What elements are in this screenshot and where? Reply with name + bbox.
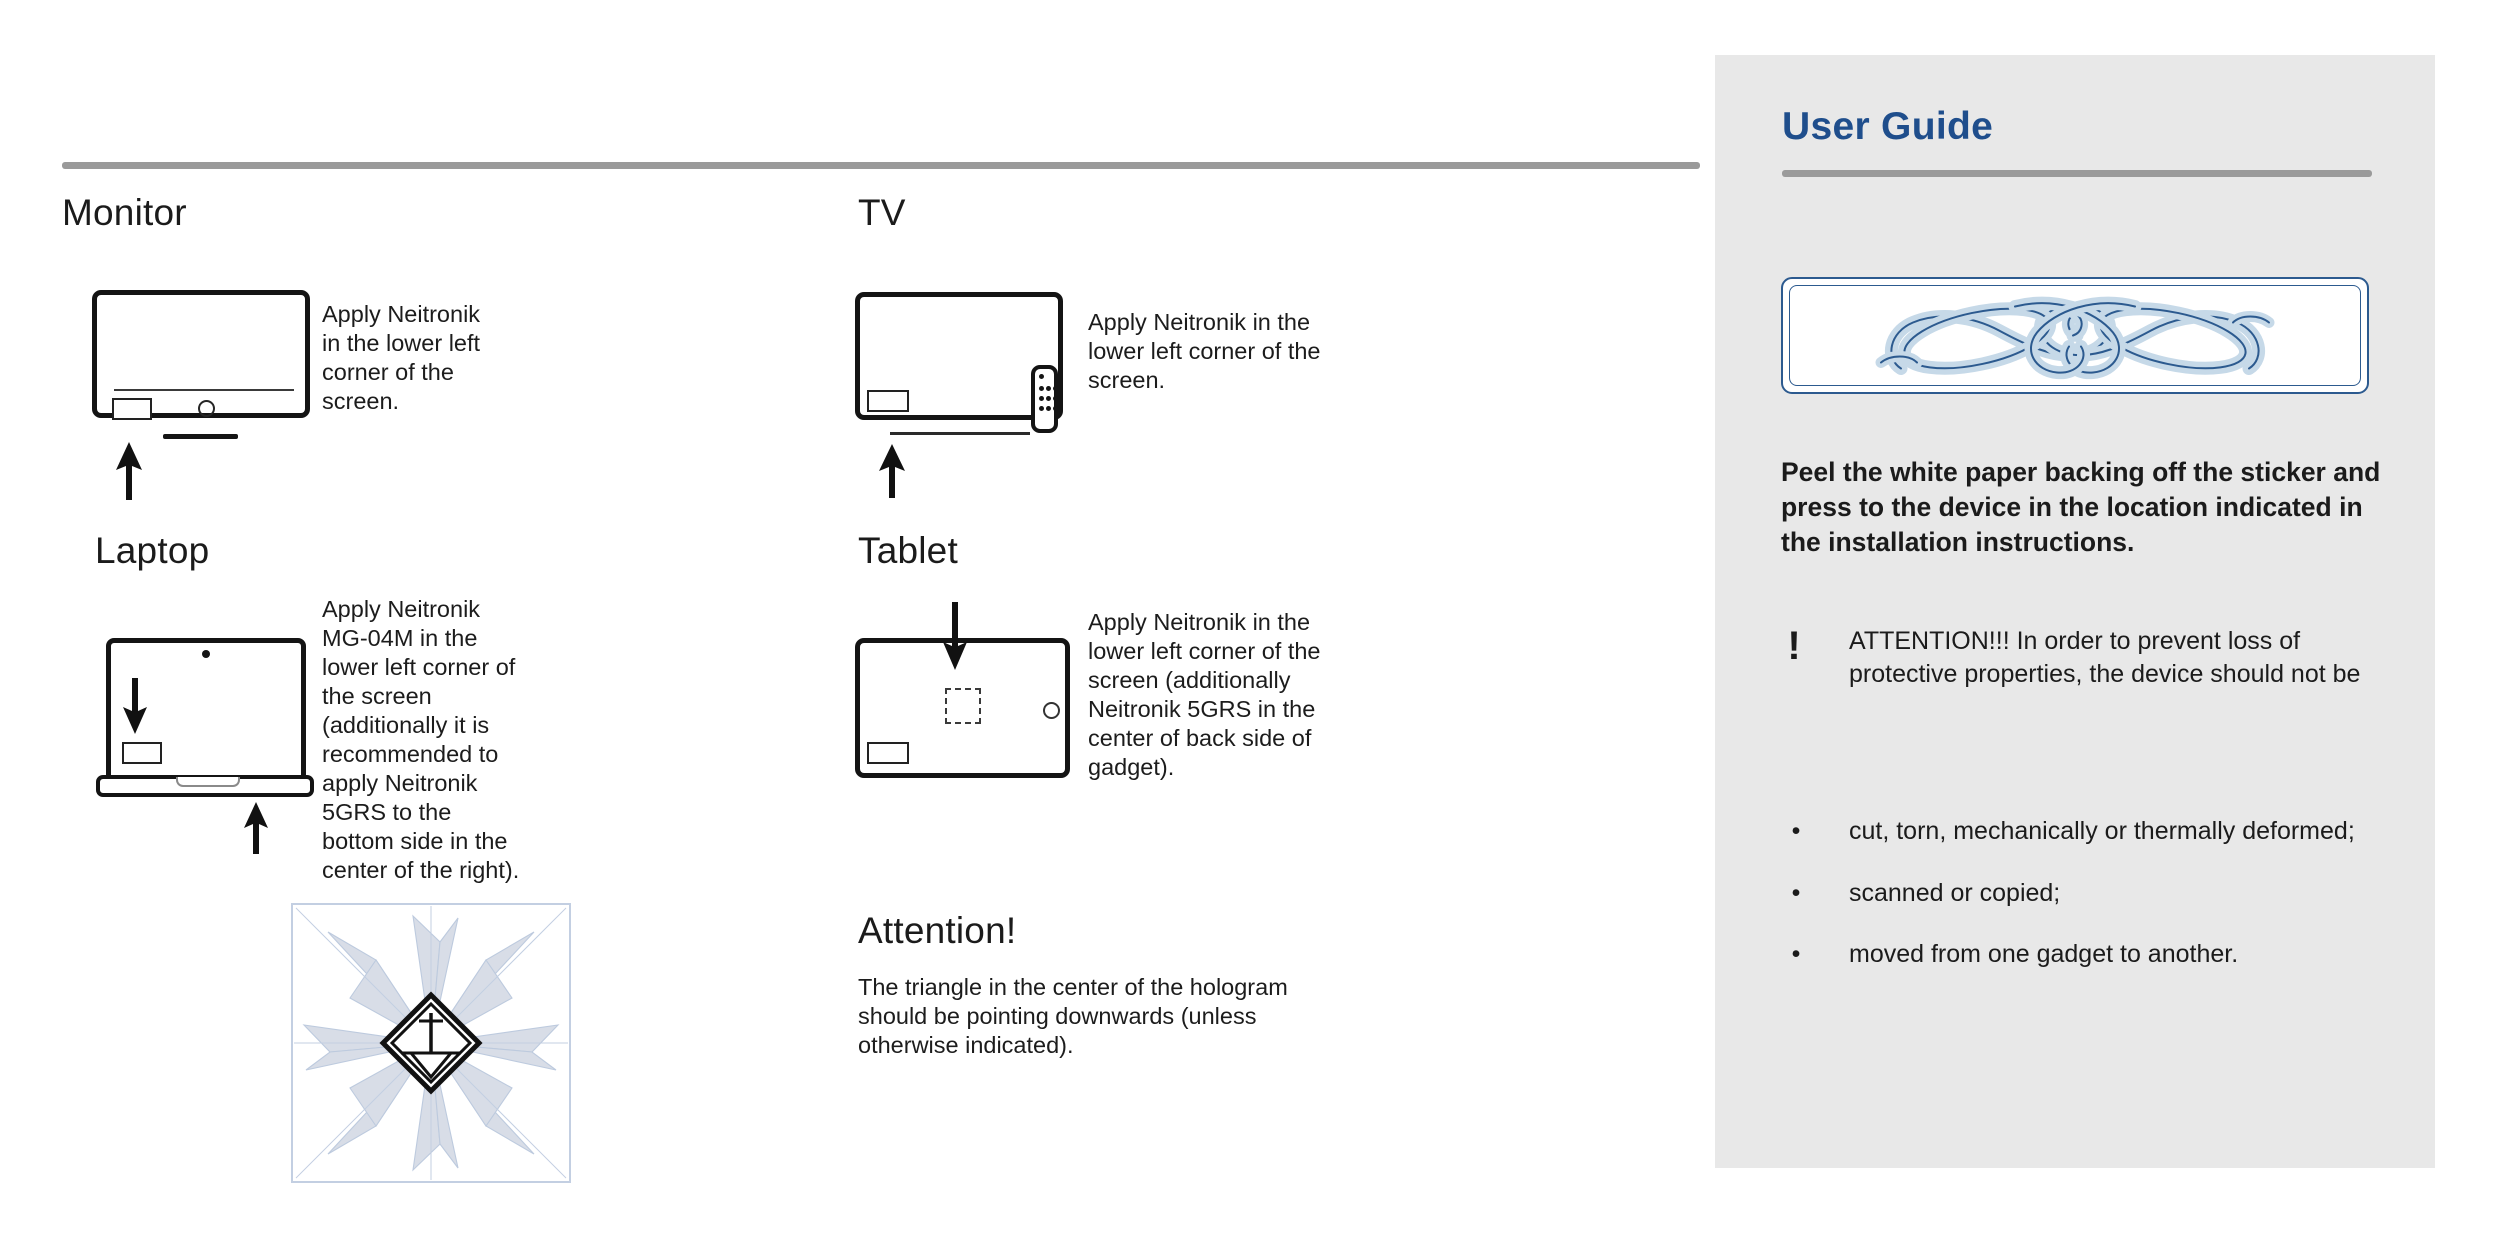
list-item: • cut, torn, mechanically or thermally d… [1781, 815, 2401, 848]
tv-remote-control [1031, 365, 1058, 433]
laptop-trackpad-notch [176, 777, 240, 787]
panel-bullet-list: • cut, torn, mechanically or thermally d… [1781, 815, 2401, 1000]
tv-sticker-placement [867, 390, 909, 412]
tablet-back-sticker-zone [945, 688, 981, 724]
list-item-label: scanned or copied; [1849, 879, 2060, 907]
monitor-arrow-icon [112, 440, 146, 502]
laptop-arrow-up-icon [240, 800, 272, 856]
sticker-preview-frame [1781, 277, 2369, 394]
list-item: • scanned or copied; [1781, 877, 2401, 910]
monitor-stand [163, 434, 238, 439]
tablet-arrow-down-icon [940, 600, 970, 672]
attention-heading: Attention! [858, 910, 1016, 952]
sticker-inner-frame [1789, 285, 2361, 386]
panel-title-divider [1782, 170, 2372, 177]
monitor-illustration [92, 290, 317, 420]
tablet-instruction-text: Apply Neitronik in the lower left corner… [1088, 608, 1333, 782]
instruction-sheet: Monitor Apply Neitronik in the lower lef… [0, 0, 1715, 1257]
monitor-power-led-icon [198, 400, 215, 417]
tv-instruction-text: Apply Neitronik in the lower left corner… [1088, 308, 1358, 395]
panel-warning-text: ATTENTION!!! In order to prevent loss of… [1849, 625, 2389, 690]
celtic-knot-icon [1865, 288, 2285, 383]
list-item: • moved from one gadget to another. [1781, 938, 2401, 971]
user-guide-page: Monitor Apply Neitronik in the lower lef… [0, 0, 2501, 1257]
list-item-label: moved from one gadget to another. [1849, 940, 2238, 968]
tablet-sticker-placement [867, 742, 909, 764]
monitor-sticker-placement [112, 398, 152, 420]
user-guide-panel: User Guide [1715, 55, 2435, 1168]
list-item-label: cut, torn, mechanically or thermally def… [1849, 817, 2355, 845]
section-title-tablet: Tablet [858, 530, 958, 572]
tv-arrow-icon [875, 442, 909, 500]
panel-instruction-text: Peel the white paper backing off the sti… [1781, 455, 2381, 560]
section-title-monitor: Monitor [62, 192, 187, 234]
tv-base-line [890, 432, 1030, 435]
section-title-laptop: Laptop [95, 530, 209, 572]
header-divider [62, 162, 1700, 169]
section-title-tv: TV [858, 192, 906, 234]
laptop-camera-icon [202, 650, 210, 658]
monitor-instruction-text: Apply Neitronik in the lower left corner… [322, 300, 497, 416]
tablet-home-button-icon [1043, 702, 1060, 719]
bullet-marker-icon: • [1781, 815, 1811, 847]
laptop-sticker-placement [122, 742, 162, 764]
bullet-marker-icon: • [1781, 938, 1811, 970]
exclamation-icon: ! [1781, 629, 1807, 663]
laptop-instruction-text: Apply Neitronik MG-04M in the lower left… [322, 595, 520, 885]
hologram-illustration [290, 902, 572, 1184]
panel-title: User Guide [1782, 105, 1993, 149]
bullet-marker-icon: • [1781, 877, 1811, 909]
laptop-arrow-down-icon [120, 676, 150, 736]
attention-body-text: The triangle in the center of the hologr… [858, 973, 1363, 1060]
